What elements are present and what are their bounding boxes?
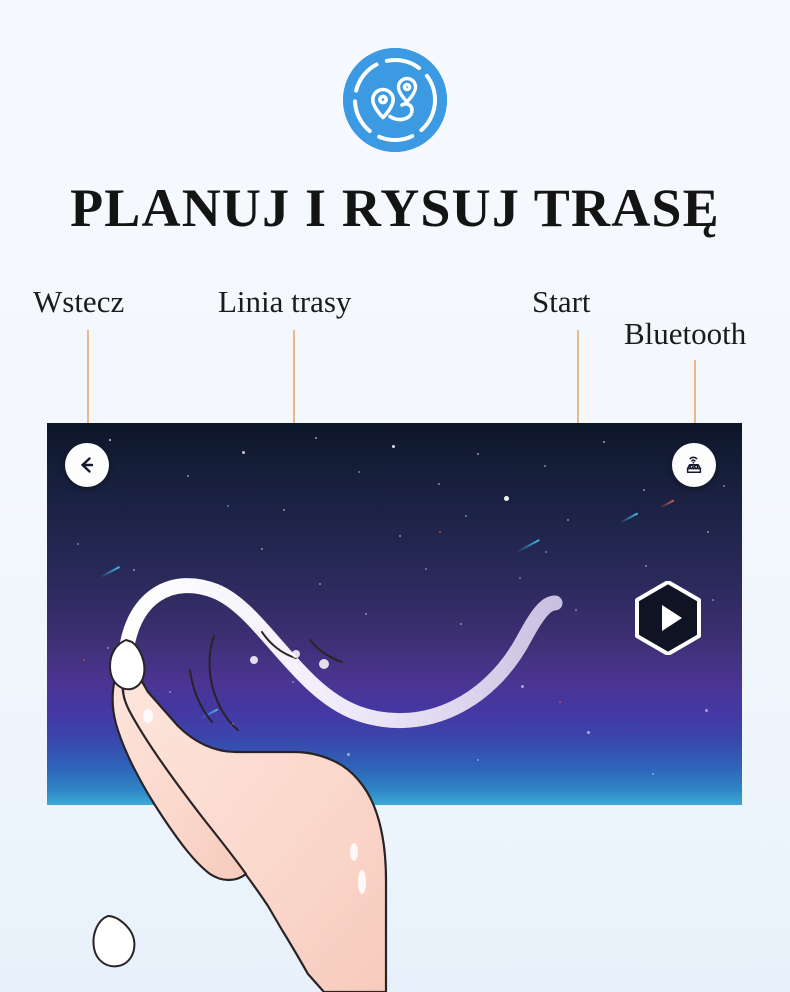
robot-signal-icon	[680, 451, 708, 479]
callout-label-bluetooth: Bluetooth	[624, 316, 746, 352]
callout-label-start: Start	[532, 284, 591, 320]
bluetooth-button[interactable]	[672, 443, 716, 487]
callout-label-linia-trasy: Linia trasy	[218, 284, 351, 320]
map-pins-route-icon	[343, 48, 447, 152]
logo-container	[0, 48, 790, 152]
arrow-left-icon	[75, 453, 99, 477]
callout-label-wstecz: Wstecz	[33, 284, 124, 320]
back-button[interactable]	[65, 443, 109, 487]
start-button[interactable]	[635, 581, 701, 655]
device-screen	[47, 423, 742, 805]
page-title: PLANUJ I RYSUJ TRASĘ	[0, 176, 790, 240]
